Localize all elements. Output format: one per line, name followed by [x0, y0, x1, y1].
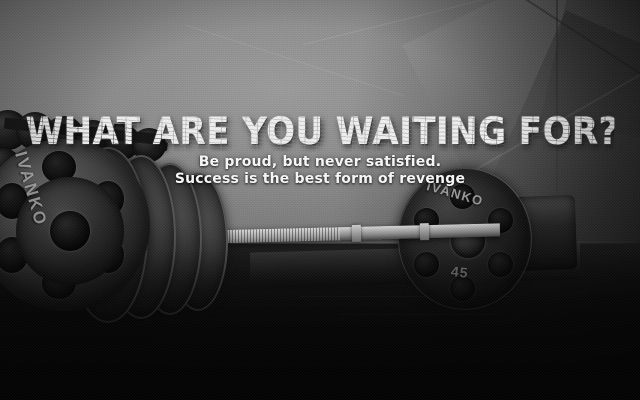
poster-subtitle-line-1: Be proud, but never satisfied.: [0, 154, 640, 170]
poster-text-block: WHAT ARE YOU WAITING FOR? Be proud, but …: [0, 0, 640, 400]
poster-subtitle-line-2: Success is the best form of revenge: [0, 171, 640, 187]
poster-headline: WHAT ARE YOU WAITING FOR?: [26, 112, 615, 152]
motivational-poster: IVANKO 45 IVANKO WHAT ARE YOU WAITING FO…: [0, 0, 640, 400]
